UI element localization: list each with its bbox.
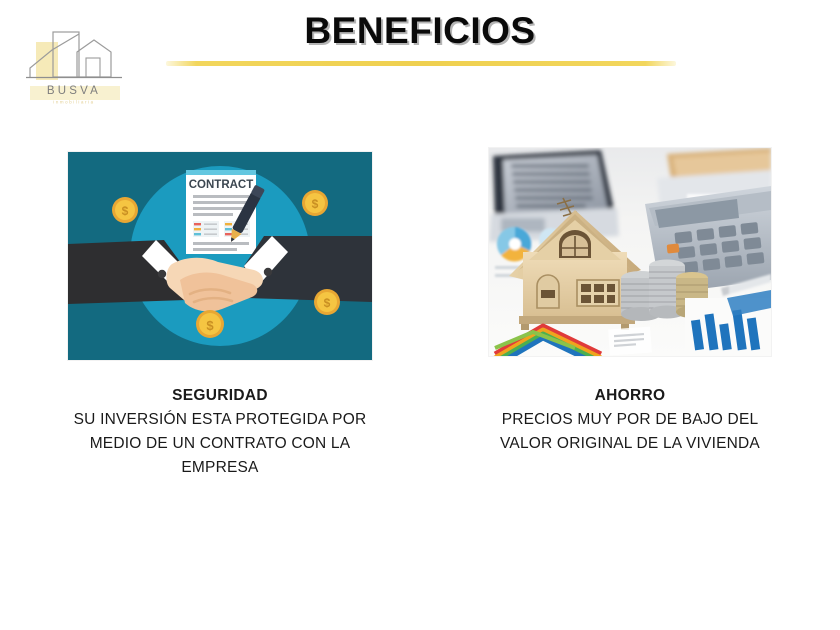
svg-text:$: $ <box>324 296 331 310</box>
busva-logo-icon: BUSVA inmobiliaria <box>22 24 138 108</box>
page-title: BENEFICIOS <box>170 12 670 51</box>
ahorro-caption-title: AHORRO <box>440 384 820 408</box>
benefit-column-ahorro: AHORRO PRECIOS MUY POR DE BAJO DEL VALOR… <box>440 148 820 456</box>
brand-logo: BUSVA inmobiliaria <box>22 24 138 108</box>
logo-tagline-text: inmobiliaria <box>53 100 94 105</box>
coin-icon-1: $ <box>112 197 138 223</box>
ahorro-image <box>489 148 771 356</box>
svg-text:$: $ <box>122 204 129 218</box>
seguridad-caption-body: SU INVERSIÓN ESTA PROTEGIDA POR MEDIO DE… <box>20 408 420 480</box>
title-underline-rule <box>166 61 676 66</box>
handshake-contract-illustration-icon: CONTRACT <box>68 152 372 360</box>
house-model-coins-photo-icon <box>489 148 771 356</box>
benefit-column-seguridad: CONTRACT <box>20 148 420 480</box>
seguridad-caption-title: SEGURIDAD <box>20 384 420 408</box>
seguridad-image: CONTRACT <box>68 152 372 360</box>
svg-text:$: $ <box>206 318 214 333</box>
contract-document-label: CONTRACT <box>189 179 254 191</box>
coin-icon-2: $ <box>302 190 328 216</box>
svg-text:$: $ <box>312 197 319 211</box>
logo-brand-text: BUSVA <box>47 85 101 97</box>
coin-icon-3: $ <box>314 289 340 315</box>
ahorro-caption: AHORRO PRECIOS MUY POR DE BAJO DEL VALOR… <box>440 384 820 456</box>
ahorro-caption-body: PRECIOS MUY POR DE BAJO DEL VALOR ORIGIN… <box>440 408 820 456</box>
coin-icon-4: $ <box>196 310 224 338</box>
seguridad-caption: SEGURIDAD SU INVERSIÓN ESTA PROTEGIDA PO… <box>20 384 420 480</box>
